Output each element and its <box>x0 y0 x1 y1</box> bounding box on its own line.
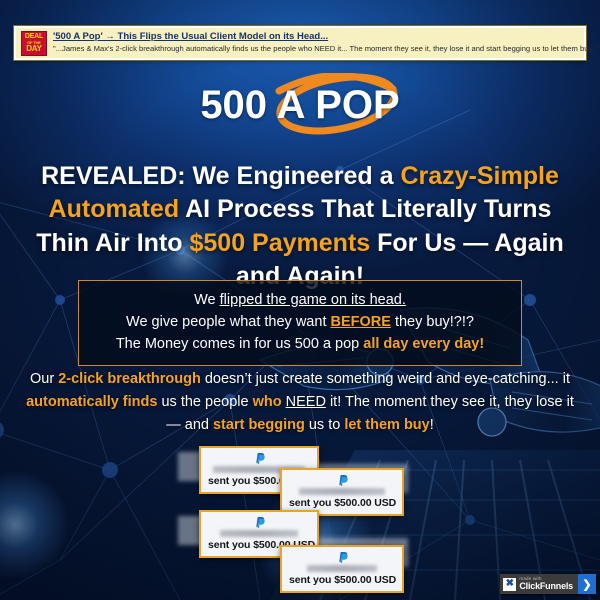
callout-3-pre: The Money comes in for us 500 a pop <box>116 336 363 352</box>
callout-2-post: they buy!?!? <box>391 314 474 330</box>
banner-headline[interactable]: '500 A Pop' → This Flips the Usual Clien… <box>53 31 579 43</box>
paypal-icon <box>254 452 265 464</box>
paypal-icon <box>337 551 348 563</box>
landing-page: DEAL OF THE DAY '500 A Pop' → This Flips… <box>0 0 600 600</box>
body-highlight-1: 2-click breakthrough <box>58 371 201 387</box>
callout-box: We flipped the game on its head. We give… <box>78 280 522 366</box>
deal-of-the-day-banner[interactable]: DEAL OF THE DAY '500 A Pop' → This Flips… <box>14 26 586 60</box>
brand-logo[interactable]: 500 A POP <box>0 72 600 138</box>
callout-2-before: BEFORE <box>331 314 391 330</box>
body-highlight-2: automatically finds <box>26 394 157 410</box>
body-seg-6: ! <box>430 417 434 433</box>
callout-1-underline: flipped the game on its head. <box>220 292 406 308</box>
payer-name-blurred <box>220 530 298 537</box>
body-seg-1: Our <box>30 371 58 387</box>
payment-amount: sent you $500.00 USD <box>289 497 395 509</box>
headline-part-1: REVEALED: We Engineered a <box>41 162 400 190</box>
callout-line-2: We give people what they want BEFORE the… <box>89 311 511 333</box>
headline-highlight-3: $500 Payments <box>190 229 371 257</box>
clickfunnels-main[interactable]: ✖ made with ClickFunnels <box>500 574 578 594</box>
callout-line-1: We flipped the game on its head. <box>89 289 511 311</box>
headline-highlight-2: Automated <box>49 195 180 223</box>
payer-name-blurred <box>299 488 385 495</box>
body-highlight-need: NEED <box>286 394 326 410</box>
callout-3-highlight: all day every day! <box>363 336 484 352</box>
deal-of-the-day-badge: DEAL OF THE DAY <box>21 31 47 56</box>
body-highlight-4: start begging <box>213 417 305 433</box>
body-highlight-3: who <box>253 394 286 410</box>
payment-amount: sent you $500.00 USD <box>289 574 395 586</box>
logo-text: 500 A POP <box>187 73 413 137</box>
clickfunnels-logo-icon: ✖ <box>503 578 516 591</box>
body-seg-2: doesn’t just create something weird and … <box>201 371 570 387</box>
clickfunnels-badge[interactable]: ✖ made with ClickFunnels ❯ <box>500 574 596 594</box>
body-copy: Our 2-click breakthrough doesn’t just cr… <box>20 368 580 438</box>
payment-card[interactable]: sent you $500.00 USD <box>280 468 404 516</box>
banner-text: '500 A Pop' → This Flips the Usual Clien… <box>53 31 579 54</box>
badge-line-deal: DEAL <box>25 33 43 40</box>
paypal-icon <box>254 516 265 528</box>
body-seg-5: us to <box>305 417 345 433</box>
clickfunnels-labels: made with ClickFunnels <box>519 577 573 591</box>
paypal-icon <box>337 474 348 486</box>
badge-line-day: DAY <box>26 45 42 53</box>
callout-1-pre: We <box>194 292 220 308</box>
callout-2-pre: We give people what they want <box>126 314 330 330</box>
clickfunnels-name-label: ClickFunnels <box>519 582 573 591</box>
payer-name-blurred <box>307 565 377 572</box>
callout-line-3: The Money comes in for us 500 a pop all … <box>89 333 511 355</box>
payment-card[interactable]: sent you $500.00 USD <box>280 545 404 593</box>
body-highlight-5: let them buy <box>344 417 429 433</box>
banner-subline: "...James & Max's 2-click breakthrough a… <box>53 44 579 54</box>
body-seg-3: us the people <box>157 394 252 410</box>
page-title: REVEALED: We Engineered a Crazy-Simple A… <box>22 160 578 293</box>
headline-highlight-1: Crazy-Simple <box>400 162 558 190</box>
clickfunnels-arrow-icon[interactable]: ❯ <box>578 574 596 594</box>
